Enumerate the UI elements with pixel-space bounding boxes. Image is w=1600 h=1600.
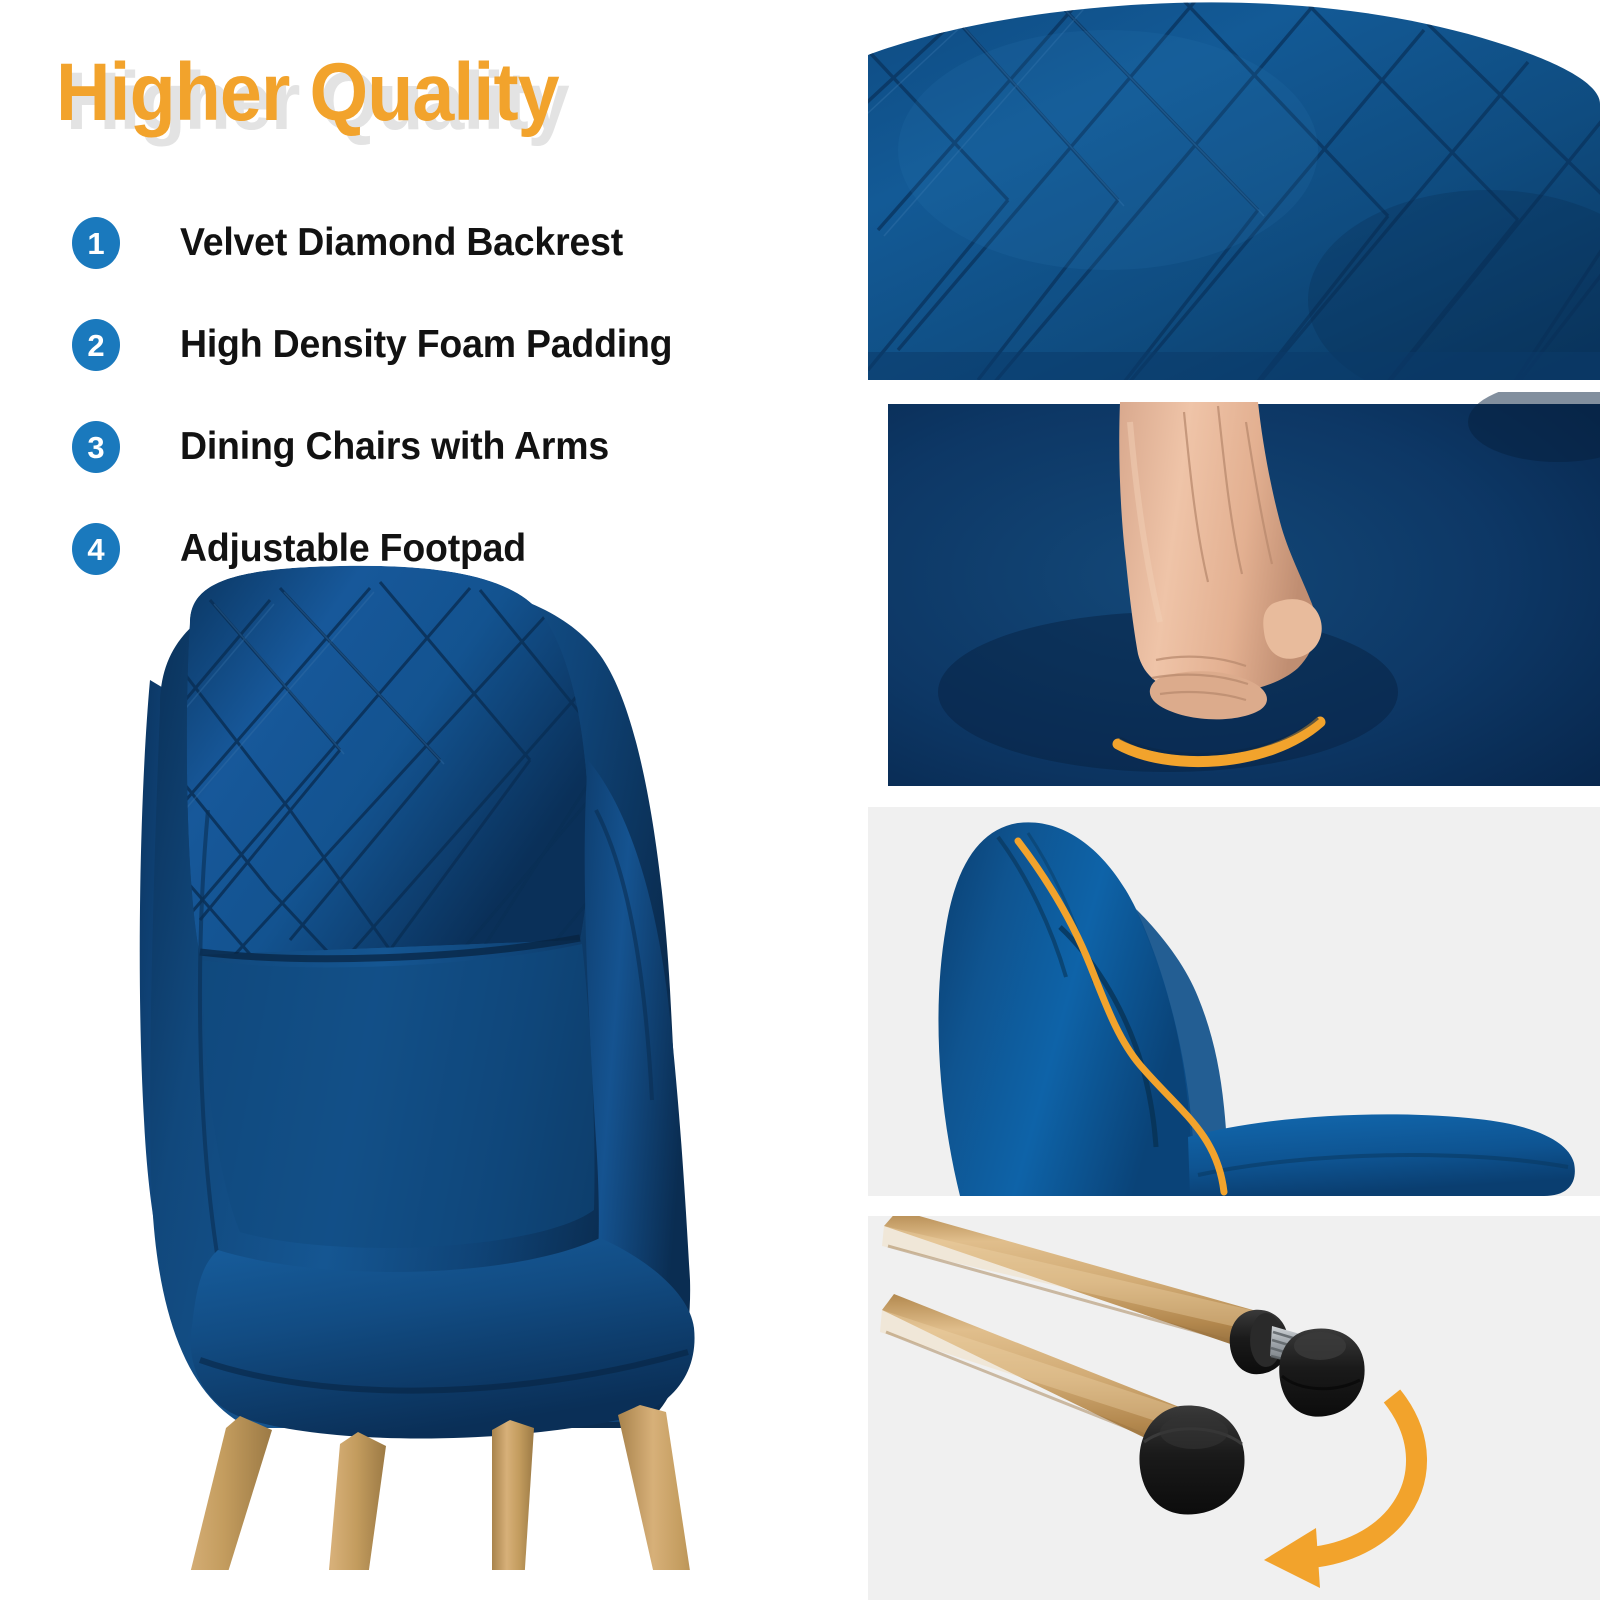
feature-list: 1 Velvet Diamond Backrest 2 High Density… — [72, 192, 812, 600]
feature-label: High Density Foam Padding — [180, 323, 672, 367]
lumbar-cushion — [202, 944, 595, 1248]
attached-footpad — [1139, 1405, 1244, 1514]
feature-item-3: 3 Dining Chairs with Arms — [72, 396, 812, 498]
leg-front-right — [302, 1432, 386, 1570]
left-content-column: Higher Quality Higher Quality 1 Velvet D… — [0, 0, 868, 1600]
feature-number-badge: 1 — [72, 217, 120, 269]
panel-background — [868, 1216, 1600, 1600]
product-infographic-poster: Higher Quality Higher Quality 1 Velvet D… — [0, 0, 1600, 1600]
leg-back-right — [618, 1405, 718, 1570]
panel-adjustable-footpad-detail — [868, 1216, 1600, 1600]
leg-back-left — [492, 1420, 534, 1570]
feature-item-2: 2 High Density Foam Padding — [72, 294, 812, 396]
panel-foam-density-press-test — [868, 392, 1600, 786]
panel-velvet-diamond-backrest-closeup — [868, 0, 1600, 380]
page-title: Higher Quality — [56, 52, 755, 134]
feature-label: Velvet Diamond Backrest — [180, 221, 623, 265]
feature-item-1: 1 Velvet Diamond Backrest — [72, 192, 812, 294]
feature-number-badge: 2 — [72, 319, 120, 371]
leg-front-left — [136, 1416, 272, 1570]
feature-label: Dining Chairs with Arms — [180, 425, 609, 469]
panel-chair-side-profile-contour — [868, 807, 1600, 1196]
hero-chair-image — [40, 560, 840, 1570]
headline-block: Higher Quality Higher Quality — [56, 52, 816, 162]
feature-number-badge: 3 — [72, 421, 120, 473]
